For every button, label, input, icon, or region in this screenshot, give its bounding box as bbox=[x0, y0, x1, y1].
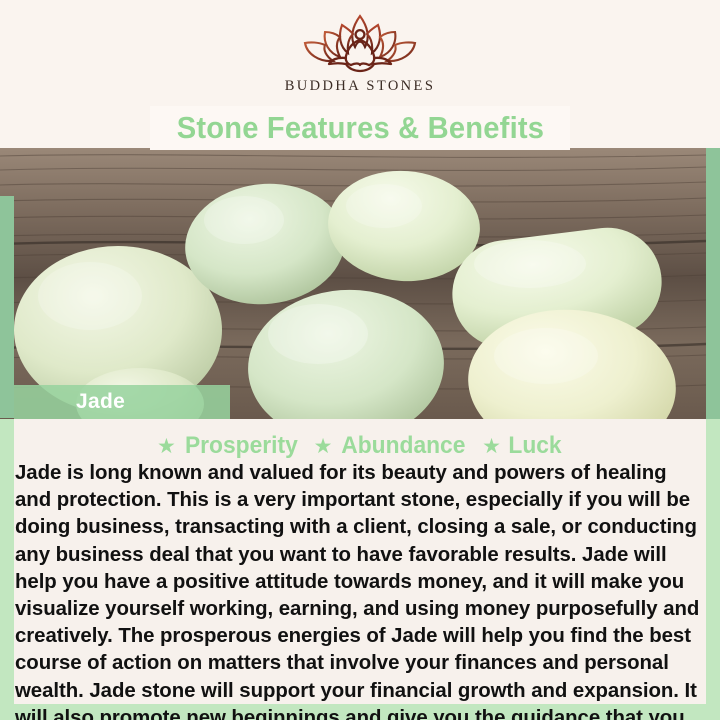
stone-name-band: Jade bbox=[14, 385, 230, 419]
benefit-label: Prosperity bbox=[185, 432, 298, 460]
lotus-meditation-logo-icon bbox=[285, 12, 435, 74]
infographic-page: BUDDHA STONES bbox=[0, 0, 720, 720]
benefit-label: Luck bbox=[508, 432, 561, 460]
star-icon: ★ bbox=[482, 436, 501, 457]
brand-name: BUDDHA STONES bbox=[285, 78, 436, 95]
title-banner: Stone Features & Benefits bbox=[150, 106, 570, 150]
benefit-item-abundance: ★ Abundance bbox=[314, 432, 470, 460]
stone-photo-illustration bbox=[0, 148, 706, 419]
star-icon: ★ bbox=[157, 436, 176, 457]
photo-accent-strip-left bbox=[0, 196, 14, 418]
page-title: Stone Features & Benefits bbox=[176, 110, 543, 146]
stone-name-label: Jade bbox=[76, 390, 125, 414]
photo-accent-strip-right bbox=[706, 148, 720, 419]
benefit-item-luck: ★ Luck bbox=[482, 432, 563, 460]
benefits-row: ★ Prosperity ★ Abundance ★ Luck bbox=[14, 429, 706, 463]
benefit-item-prosperity: ★ Prosperity bbox=[157, 432, 301, 460]
stone-photo bbox=[0, 148, 706, 419]
star-icon: ★ bbox=[314, 436, 333, 457]
benefit-label: Abundance bbox=[342, 432, 466, 460]
brand-logo-group: BUDDHA STONES bbox=[285, 12, 436, 95]
stone-description-text: Jade is long known and valued for its be… bbox=[15, 460, 705, 720]
